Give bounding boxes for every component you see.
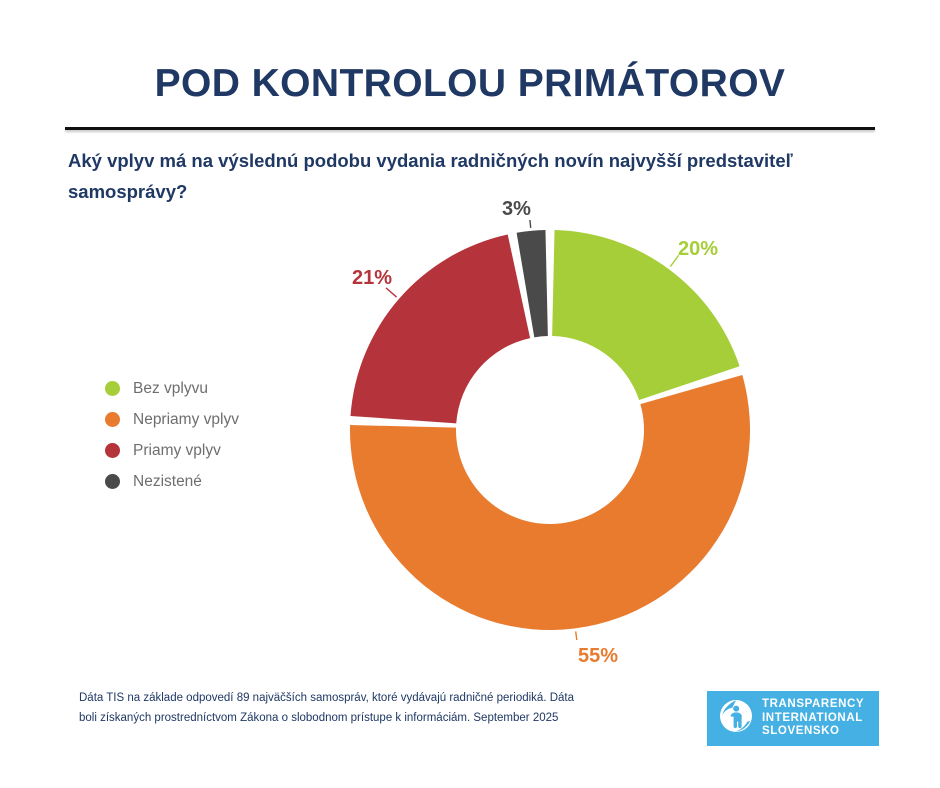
transparency-international-logo[interactable]: TRANSPARENCY INTERNATIONAL SLOVENSKO bbox=[707, 691, 879, 746]
legend-item-nepriamy-vplyv[interactable]: Nepriamy vplyv bbox=[105, 404, 239, 435]
legend-item-bez-vplyvu[interactable]: Bez vplyvu bbox=[105, 373, 239, 404]
slice-percent-label-nepriamy-vplyv: 55% bbox=[578, 645, 618, 668]
logo-line-2: INTERNATIONAL bbox=[762, 712, 864, 726]
legend-item-label: Priamy vplyv bbox=[133, 442, 221, 460]
legend-item-label: Bez vplyvu bbox=[133, 380, 208, 398]
legend-item-priamy-vplyv[interactable]: Priamy vplyv bbox=[105, 435, 239, 466]
legend-item-nezistene[interactable]: Nezistené bbox=[105, 466, 239, 497]
slice-leader-line bbox=[529, 220, 530, 228]
donut-slice-group bbox=[350, 220, 750, 640]
source-note: Dáta TIS na základe odpovedí 89 najväčší… bbox=[79, 688, 579, 728]
donut-chart-svg bbox=[340, 220, 760, 640]
slice-leader-line bbox=[576, 631, 578, 640]
slice-percent-label-nezistene: 3% bbox=[502, 198, 531, 221]
chart-legend: Bez vplyvu Nepriamy vplyv Priamy vplyv N… bbox=[105, 373, 239, 497]
title-divider bbox=[65, 127, 875, 130]
legend-color-swatch-icon bbox=[105, 474, 120, 489]
page-title: POD KONTROLOU PRIMÁTOROV bbox=[0, 62, 940, 106]
legend-item-label: Nepriamy vplyv bbox=[133, 411, 239, 429]
logo-wordmark: TRANSPARENCY INTERNATIONAL SLOVENSKO bbox=[762, 698, 864, 739]
legend-color-swatch-icon bbox=[105, 381, 120, 396]
legend-color-swatch-icon bbox=[105, 443, 120, 458]
chart-question-subtitle: Aký vplyv má na výslednú podobu vydania … bbox=[68, 145, 808, 207]
logo-line-1: TRANSPARENCY bbox=[762, 698, 864, 712]
slice-percent-label-priamy-vplyv: 21% bbox=[352, 267, 392, 290]
donut-chart bbox=[340, 220, 760, 640]
legend-item-label: Nezistené bbox=[133, 473, 202, 491]
logo-line-3: SLOVENSKO bbox=[762, 725, 864, 739]
legend-color-swatch-icon bbox=[105, 412, 120, 427]
slice-percent-label-bez-vplyvu: 20% bbox=[678, 238, 718, 261]
ti-globe-figure-icon bbox=[719, 699, 753, 738]
donut-slice[interactable] bbox=[350, 235, 530, 424]
